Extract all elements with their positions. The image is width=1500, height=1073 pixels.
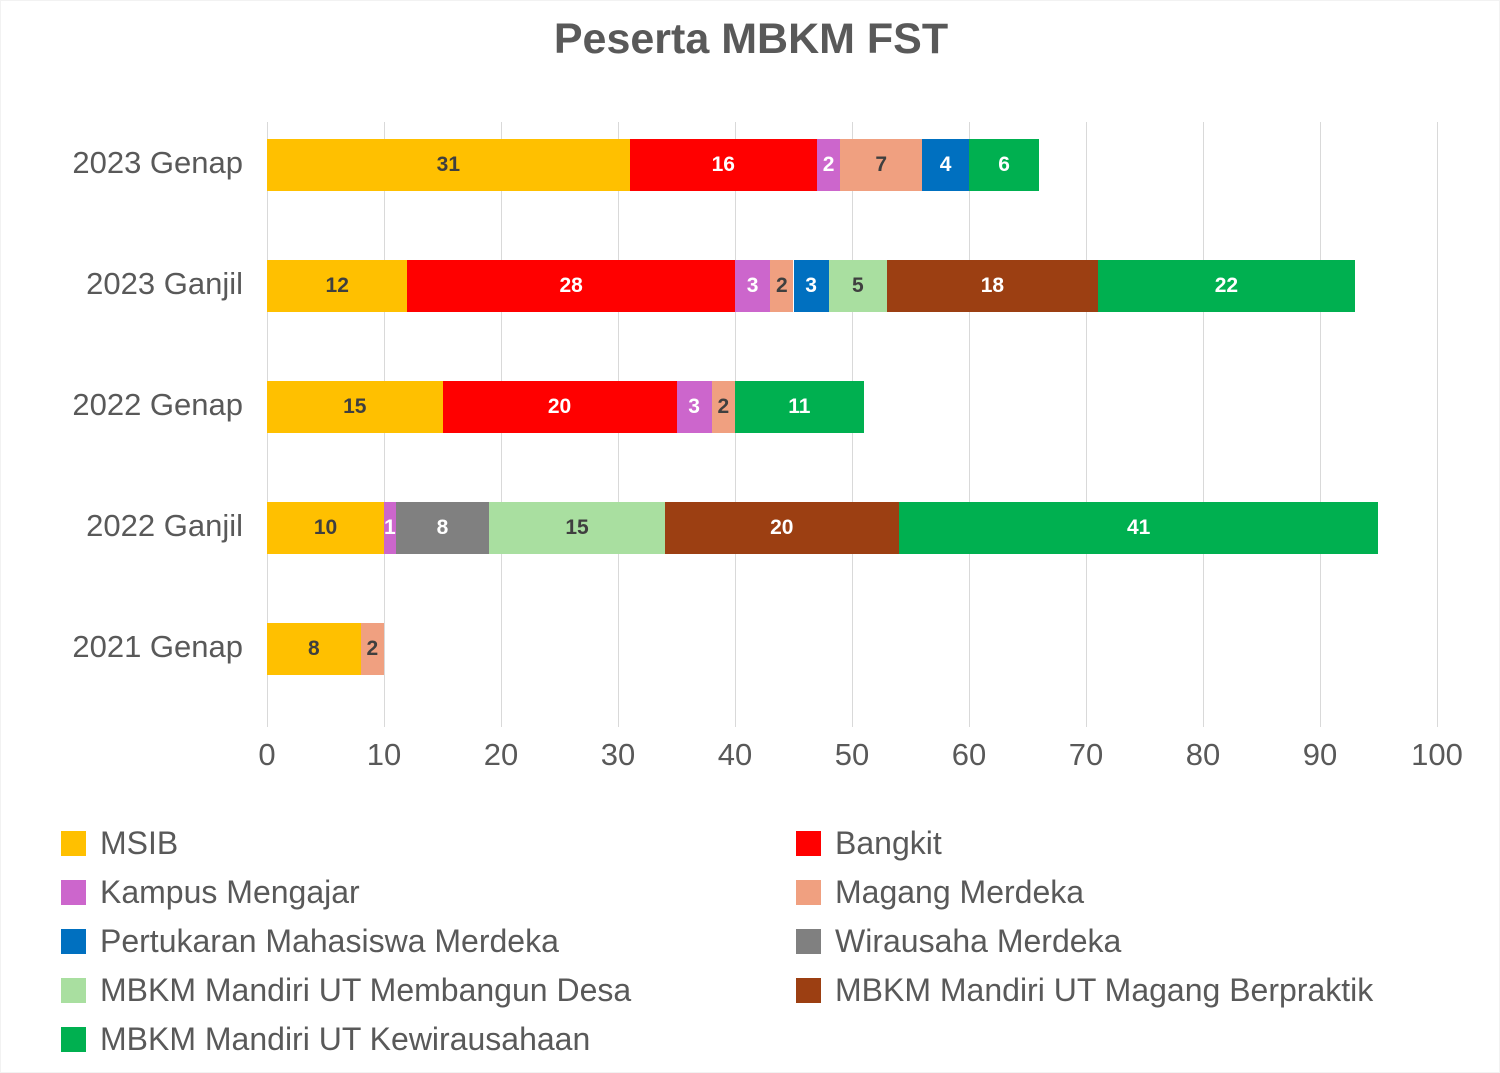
- x-tick-label: 20: [461, 737, 541, 773]
- x-tick-label: 30: [578, 737, 658, 773]
- bar-value-label: 11: [788, 395, 810, 419]
- gridline-100: [1437, 122, 1438, 727]
- bar-segment[interactable]: 2: [361, 623, 384, 675]
- bar-value-label: 15: [343, 395, 366, 419]
- legend-item-label: MSIB: [100, 827, 178, 859]
- legend-item[interactable]: Magang Merdeka: [796, 870, 1084, 914]
- bar-segment[interactable]: 2: [817, 139, 840, 191]
- bar-value-label: 8: [437, 516, 449, 540]
- y-axis-label-1: 2023 Ganjil: [13, 266, 243, 302]
- legend-item-label: MBKM Mandiri UT Kewirausahaan: [100, 1023, 590, 1055]
- bar-value-label: 22: [1215, 274, 1238, 298]
- legend-item-label: Magang Merdeka: [835, 876, 1084, 908]
- bar-segment[interactable]: 22: [1098, 260, 1355, 312]
- bar-value-label: 3: [805, 274, 817, 298]
- bar-segment[interactable]: 4: [922, 139, 969, 191]
- bar-value-label: 28: [560, 274, 583, 298]
- gridline-90: [1320, 122, 1321, 727]
- legend-item[interactable]: Bangkit: [796, 821, 942, 865]
- bar-segment[interactable]: 3: [677, 381, 712, 433]
- legend-color-swatch-icon: [61, 929, 86, 954]
- bar-segment[interactable]: 8: [267, 623, 361, 675]
- legend-color-swatch-icon: [796, 978, 821, 1003]
- y-axis-label-2: 2022 Genap: [13, 387, 243, 423]
- bar-segment[interactable]: 10: [267, 502, 384, 554]
- page-title: Peserta MBKM FST: [1, 15, 1500, 64]
- bar-segment[interactable]: 6: [969, 139, 1039, 191]
- bar-segment[interactable]: 3: [735, 260, 770, 312]
- x-tick-label: 90: [1280, 737, 1360, 773]
- legend-item-label: Pertukaran Mahasiswa Merdeka: [100, 925, 559, 957]
- legend-color-swatch-icon: [796, 831, 821, 856]
- bar-segment[interactable]: 20: [665, 502, 899, 554]
- y-axis-label-3: 2022 Ganjil: [13, 508, 243, 544]
- bar-value-label: 3: [747, 274, 759, 298]
- bar-value-label: 15: [565, 516, 588, 540]
- bar-segment[interactable]: 3: [794, 260, 829, 312]
- x-tick-label: 100: [1397, 737, 1477, 773]
- bar-segment[interactable]: 8: [396, 502, 490, 554]
- legend-item[interactable]: Kampus Mengajar: [61, 870, 360, 914]
- bar-segment[interactable]: 2: [770, 260, 793, 312]
- bar-value-label: 31: [437, 153, 460, 177]
- chart-legend: MSIBBangkitKampus MengajarMagang Merdeka…: [1, 807, 1500, 1062]
- y-axis-label-4: 2021 Genap: [13, 629, 243, 665]
- x-tick-label: 60: [929, 737, 1009, 773]
- bar-segment[interactable]: 15: [489, 502, 665, 554]
- bar-segment[interactable]: 15: [267, 381, 443, 433]
- legend-item[interactable]: MSIB: [61, 821, 178, 865]
- bar-segment[interactable]: 20: [443, 381, 677, 433]
- bar-segment[interactable]: 12: [267, 260, 407, 312]
- bar-value-label: 4: [940, 153, 952, 177]
- x-tick-label: 10: [344, 737, 424, 773]
- bar-value-label: 16: [712, 153, 735, 177]
- bar-segment[interactable]: 28: [407, 260, 735, 312]
- bar-value-label: 6: [998, 153, 1010, 177]
- bar-value-label: 8: [308, 637, 320, 661]
- legend-color-swatch-icon: [796, 929, 821, 954]
- legend-item-label: MBKM Mandiri UT Membangun Desa: [100, 974, 631, 1006]
- bar-value-label: 20: [770, 516, 793, 540]
- bar-segment[interactable]: 11: [735, 381, 864, 433]
- bar-value-label: 2: [717, 395, 729, 419]
- bar-value-label: 5: [852, 274, 864, 298]
- bar-value-label: 18: [981, 274, 1004, 298]
- bar-segment[interactable]: 16: [630, 139, 817, 191]
- legend-color-swatch-icon: [796, 880, 821, 905]
- bar-segment[interactable]: 7: [840, 139, 922, 191]
- plot-area: 3116274612283235182215203211101815204182: [267, 122, 1437, 727]
- bar-value-label: 3: [688, 395, 700, 419]
- legend-item-label: MBKM Mandiri UT Magang Berpraktik: [835, 974, 1373, 1006]
- bar-segment[interactable]: 2: [712, 381, 735, 433]
- x-tick-label: 70: [1046, 737, 1126, 773]
- bar-value-label: 20: [548, 395, 571, 419]
- bar-segment[interactable]: 5: [829, 260, 888, 312]
- gridline-80: [1203, 122, 1204, 727]
- bar-value-label: 7: [875, 153, 887, 177]
- legend-item-label: Kampus Mengajar: [100, 876, 360, 908]
- chart-container: Peserta MBKM FST 31162746122832351822152…: [0, 0, 1500, 1073]
- legend-item-label: Wirausaha Merdeka: [835, 925, 1121, 957]
- bar-segment[interactable]: 1: [384, 502, 396, 554]
- x-tick-label: 80: [1163, 737, 1243, 773]
- bar-value-label: 2: [823, 153, 835, 177]
- gridline-70: [1086, 122, 1087, 727]
- bar-value-label: 1: [384, 516, 396, 540]
- bar-segment[interactable]: 41: [899, 502, 1379, 554]
- bar-value-label: 41: [1127, 516, 1150, 540]
- legend-item[interactable]: Wirausaha Merdeka: [796, 919, 1121, 963]
- bar-value-label: 12: [326, 274, 349, 298]
- y-axis-label-0: 2023 Genap: [13, 145, 243, 181]
- x-tick-label: 50: [812, 737, 892, 773]
- x-tick-label: 0: [227, 737, 307, 773]
- bar-segment[interactable]: 31: [267, 139, 630, 191]
- x-tick-label: 40: [695, 737, 775, 773]
- legend-item-label: Bangkit: [835, 827, 942, 859]
- legend-item[interactable]: MBKM Mandiri UT Magang Berpraktik: [796, 968, 1373, 1012]
- bar-segment[interactable]: 18: [887, 260, 1098, 312]
- legend-item[interactable]: MBKM Mandiri UT Kewirausahaan: [61, 1017, 590, 1061]
- legend-color-swatch-icon: [61, 831, 86, 856]
- legend-item[interactable]: Pertukaran Mahasiswa Merdeka: [61, 919, 559, 963]
- bar-value-label: 2: [776, 274, 788, 298]
- legend-item[interactable]: MBKM Mandiri UT Membangun Desa: [61, 968, 631, 1012]
- legend-color-swatch-icon: [61, 1027, 86, 1052]
- bar-value-label: 2: [366, 637, 378, 661]
- bar-value-label: 10: [314, 516, 337, 540]
- legend-color-swatch-icon: [61, 978, 86, 1003]
- legend-color-swatch-icon: [61, 880, 86, 905]
- gridline-60: [969, 122, 970, 727]
